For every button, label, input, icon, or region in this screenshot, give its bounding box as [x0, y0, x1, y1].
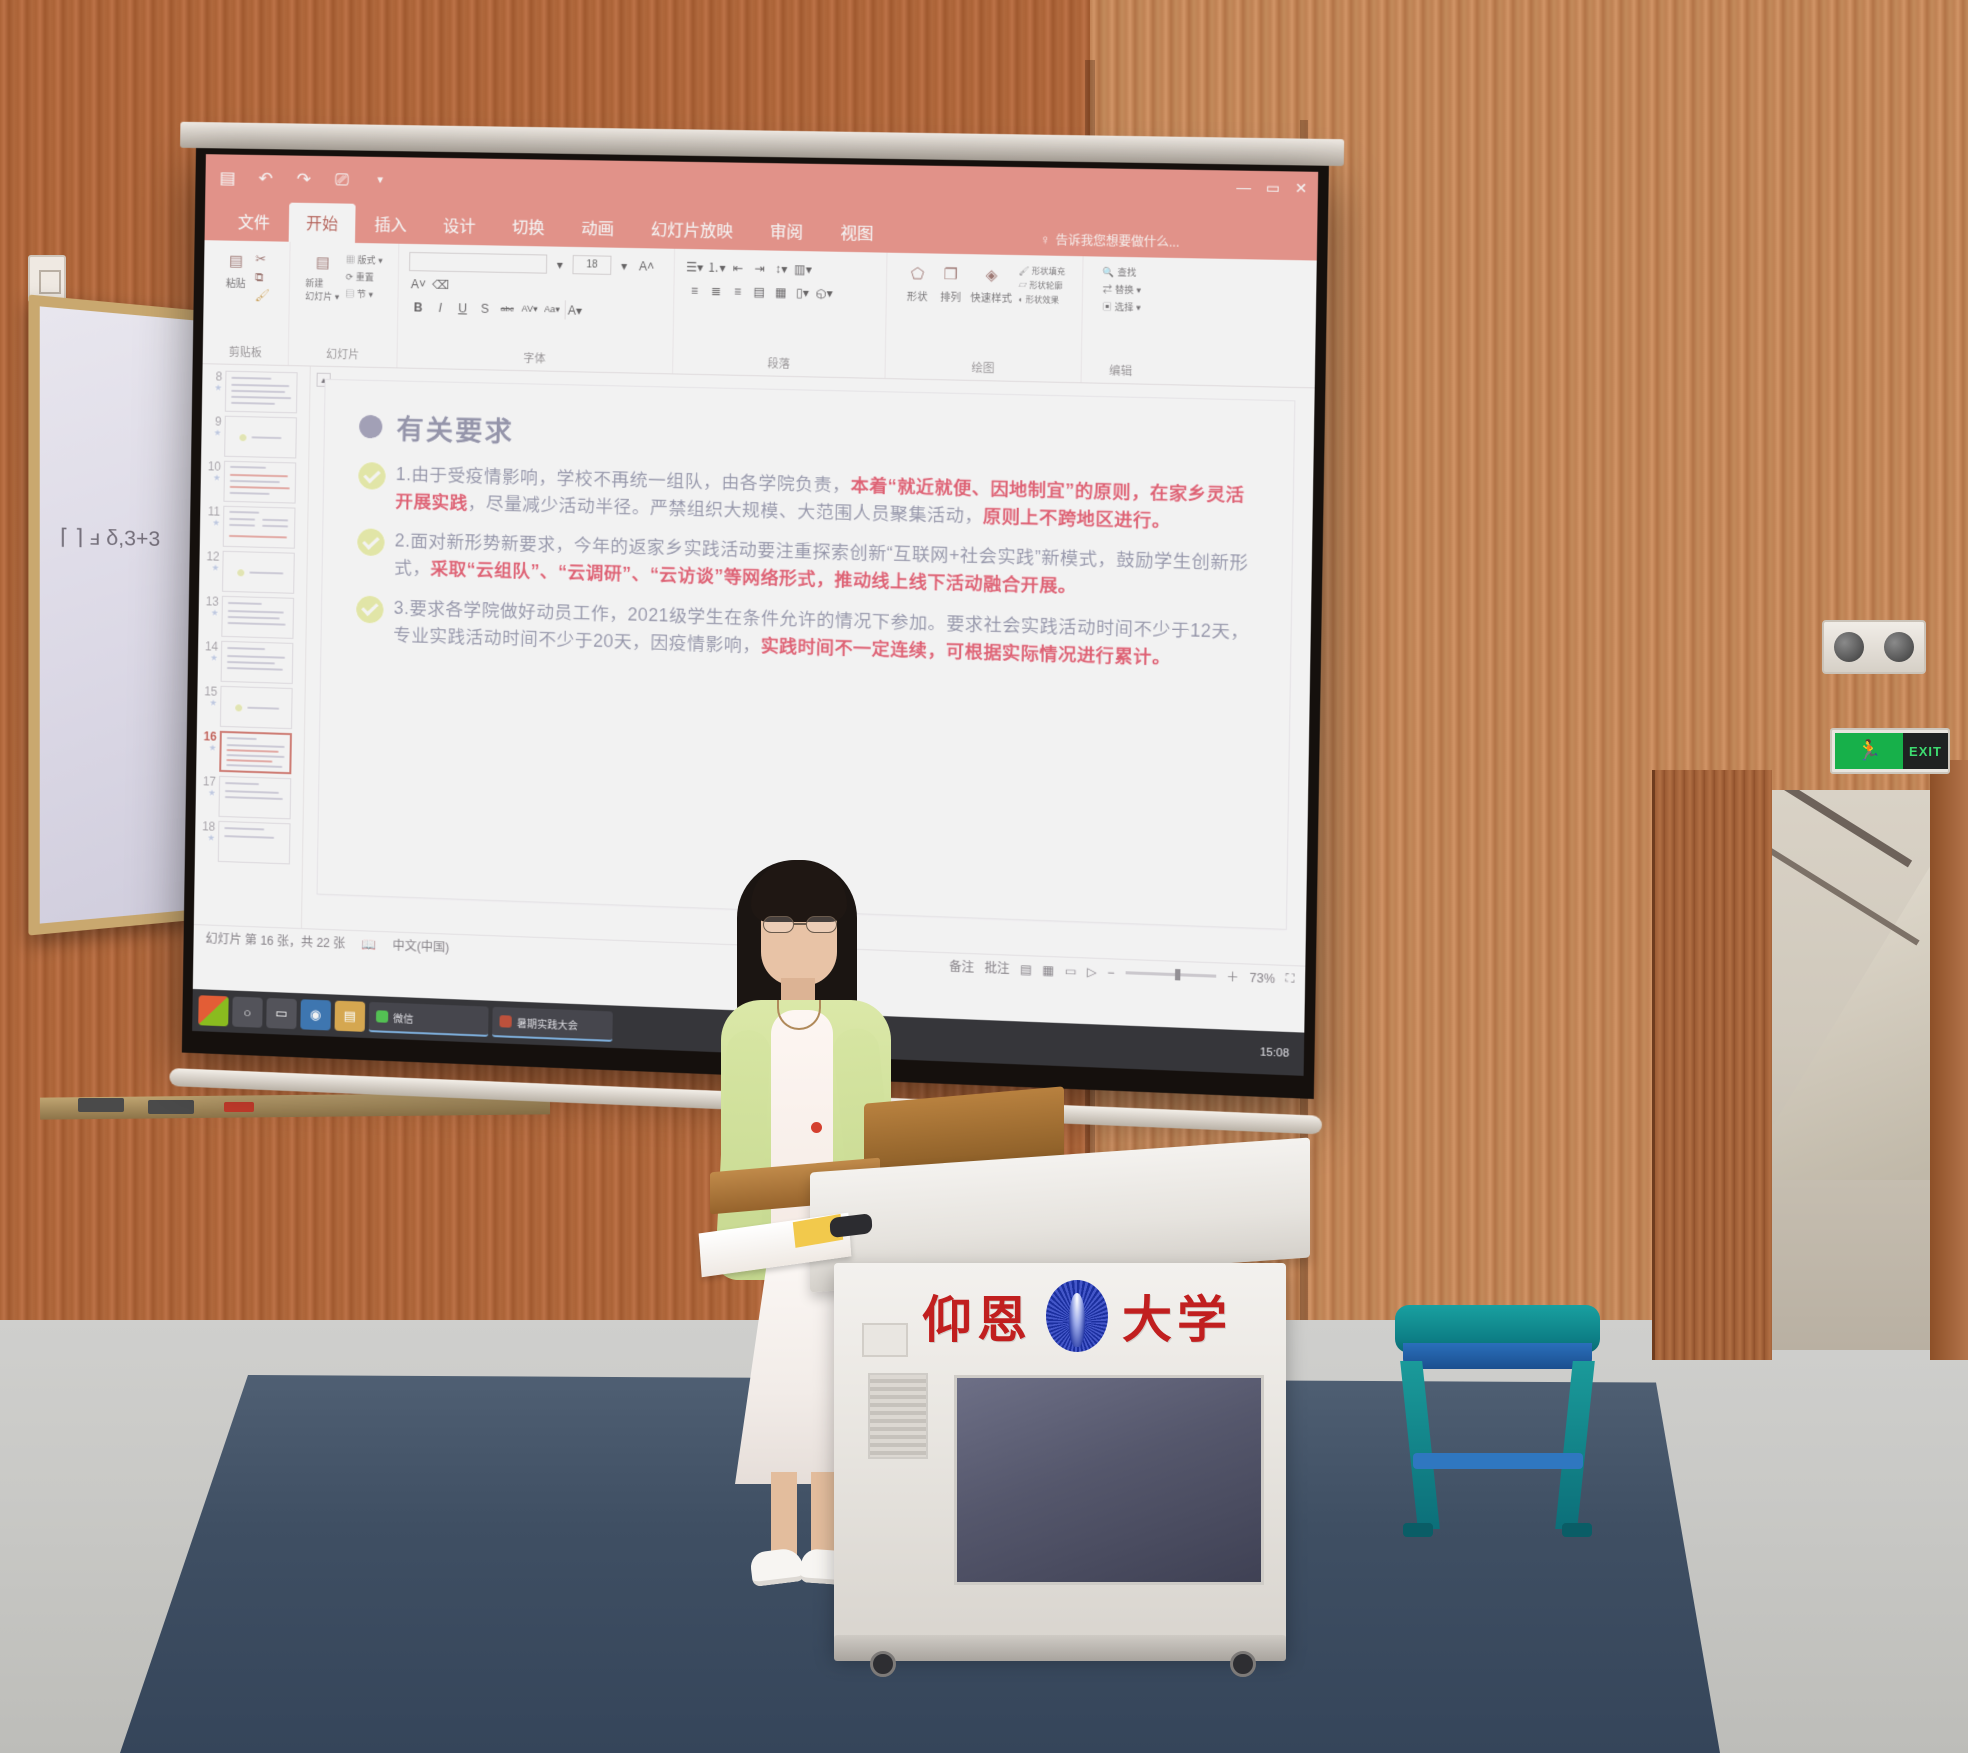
layout-button[interactable]: ▦ 版式 ▾: [346, 253, 383, 267]
paste-button[interactable]: ▤ 粘贴: [223, 249, 250, 291]
animation-star-icon: ★: [205, 472, 221, 483]
strikethrough-icon[interactable]: abc: [497, 299, 517, 319]
black-device: [830, 1213, 873, 1238]
thumbnail-number: 9: [206, 415, 222, 427]
redo-icon[interactable]: ↷: [293, 169, 313, 189]
university-logo: 仰恩 大学: [882, 1277, 1272, 1355]
select-button[interactable]: ▣ 选择 ▾: [1102, 300, 1141, 314]
reset-button[interactable]: ⟳ 重置: [346, 270, 383, 284]
taskbar-clock[interactable]: 15:08: [1260, 1046, 1298, 1060]
thumbnail-preview[interactable]: [223, 461, 296, 504]
replace-button[interactable]: ⇄ 替换 ▾: [1103, 282, 1142, 296]
normal-view-button[interactable]: ▤: [1020, 962, 1032, 977]
find-label: 查找: [1117, 267, 1136, 278]
text-direction-icon[interactable]: ▥▾: [793, 259, 813, 279]
tab-view[interactable]: 视图: [822, 212, 891, 253]
ppt-ribbon: ▤ 粘贴 ✂ ⧉ 🖌 剪贴板: [203, 240, 1317, 388]
character-spacing-icon[interactable]: AV▾: [520, 299, 540, 319]
reading-view-button[interactable]: ▭: [1065, 963, 1077, 978]
slide-bullet-1[interactable]: 1.由于受疫情影响，学校不再统一组队，由各学院负责，本着“就近就便、因地制宜”的…: [358, 460, 1257, 538]
stool-leg-left: [1400, 1361, 1440, 1529]
arrange-label: 排列: [940, 288, 961, 304]
new-slide-button[interactable]: ▤ 新建幻灯片 ▾: [305, 250, 340, 303]
whiteboard-scrawl-left: ⌈ ⌉ ⅎ δ,3+3: [60, 523, 160, 552]
powerpoint-icon: [499, 1015, 511, 1028]
quick-styles-icon: ◈: [979, 263, 1004, 288]
thumbnail-preview[interactable]: [224, 416, 297, 459]
podium-control-panel[interactable]: [862, 1323, 908, 1357]
thumbnail-item[interactable]: 12 ★: [199, 548, 307, 596]
animation-star-icon: ★: [199, 832, 215, 844]
minimize-icon[interactable]: —: [1236, 179, 1251, 197]
current-slide[interactable]: 有关要求 1.由于受疫情影响，学校不再统一组队，由各学院负责，本着“就近就便、因…: [317, 379, 1296, 930]
board-eraser-1[interactable]: [78, 1098, 124, 1112]
tab-insert[interactable]: 插入: [357, 204, 424, 244]
ribbon-group-editing: 🔍 查找 ⇄ 替换 ▾ ▣ 选择 ▾ 编辑: [1082, 256, 1162, 384]
restore-icon[interactable]: ▭: [1266, 179, 1280, 197]
align-left-icon[interactable]: ≡: [685, 280, 705, 300]
copy-icon[interactable]: ⧉: [255, 270, 271, 285]
stool-foot-left: [1403, 1523, 1433, 1537]
quick-access-toolbar: ▤ ↶ ↷ ⎚ ▾: [217, 167, 390, 190]
taskbar-window-wechat[interactable]: 微信: [369, 1002, 489, 1037]
slide-bullet-2-text: 2.面对新形势新要求，今年的返家乡实践活动要注重探索创新“互联网+社会实践”新模…: [394, 528, 1256, 606]
exit-runner-icon: 🏃: [1835, 733, 1903, 769]
lightbulb-icon: ♀: [1040, 232, 1050, 248]
new-slide-icon: ▤: [310, 250, 335, 275]
leg-left: [771, 1472, 797, 1558]
slide-thumbnail-pane[interactable]: 8 ★: [194, 364, 311, 928]
decrease-indent-icon[interactable]: ⇤: [728, 258, 748, 278]
font-color-icon[interactable]: A▾: [565, 300, 585, 320]
ribbon-group-slides-label: 幻灯片: [326, 346, 360, 367]
lectern-podium: 仰恩 大学: [810, 1095, 1310, 1655]
plastic-stool: [1395, 1305, 1600, 1540]
fit-slide-button[interactable]: ⛶: [1285, 971, 1294, 987]
check-circle-icon: [357, 529, 385, 557]
thumbnail-preview-selected[interactable]: [219, 731, 292, 774]
shape-outline-label: 形状轮廓: [1029, 281, 1063, 291]
thumbnail-item[interactable]: 10 ★: [200, 458, 308, 506]
slide-title-row[interactable]: 有关要求: [359, 407, 1258, 468]
section-button[interactable]: ▤ 节 ▾: [345, 287, 382, 301]
exit-sign: 🏃 EXIT: [1830, 728, 1950, 774]
stool-foot-right: [1562, 1523, 1592, 1537]
animation-star-icon: ★: [200, 787, 216, 799]
book-icon: 📖: [361, 937, 376, 952]
slide-bullet-2[interactable]: 2.面对新形势新要求，今年的返家乡实践活动要注重探索创新“互联网+社会实践”新模…: [357, 527, 1256, 606]
wechat-icon: [376, 1010, 388, 1023]
tell-me-label: 告诉我您想要做什么...: [1055, 231, 1179, 251]
section-label: 节: [357, 289, 366, 299]
bullet-1-seg-2: ，尽量减少活动半径。严禁组织大规模、大范围人员聚集活动，: [468, 493, 984, 526]
cut-icon[interactable]: ✂: [255, 251, 271, 267]
font-size-input[interactable]: 18: [572, 255, 611, 275]
ribbon-group-font-label: 字体: [523, 350, 546, 371]
thumbnail-number: 16: [201, 730, 217, 743]
thumbnail-number: 14: [202, 640, 218, 652]
grow-font-icon[interactable]: A˄: [637, 256, 657, 276]
university-emblem-icon: [1046, 1280, 1108, 1352]
italic-icon[interactable]: I: [431, 298, 451, 318]
slide-bullet-1-text: 1.由于受疫情影响，学校不再统一组队，由各学院负责，本着“就近就便、因地制宜”的…: [395, 461, 1257, 538]
stool-seat-skirt: [1403, 1343, 1592, 1369]
emergency-bulb-left: [1834, 632, 1864, 662]
slide-counter: 幻灯片 第 16 张，共 22 张: [205, 929, 345, 951]
podium-vent: [868, 1373, 928, 1459]
font-size-dropdown-icon[interactable]: ▾: [614, 256, 634, 276]
ribbon-group-slides: ▤ 新建幻灯片 ▾ ▦ 版式 ▾ ⟳ 重置 ▤ 节 ▾ 幻灯片: [289, 242, 400, 368]
increase-indent-icon[interactable]: ⇥: [750, 258, 770, 278]
animation-star-icon: ★: [206, 382, 222, 393]
arrange-icon: ❐: [938, 262, 963, 287]
window-controls: — ▭ ✕: [1236, 179, 1307, 198]
layout-label: 版式: [357, 255, 375, 265]
stool-crossbar: [1413, 1453, 1583, 1469]
windows-start-icon[interactable]: [198, 995, 228, 1026]
tab-transitions[interactable]: 切换: [495, 206, 563, 247]
door-frame-right: [1930, 760, 1968, 1360]
podium-front-panel: 仰恩 大学: [834, 1263, 1286, 1653]
taskbar-window-wechat-label: 微信: [393, 1009, 413, 1025]
ribbon-group-paragraph: ☰▾ ⒈▾ ⇤ ⇥ ↕▾ ▥▾ ≡ ≣ ≡ ▤: [673, 249, 887, 378]
justify-icon[interactable]: ▤: [749, 282, 769, 302]
thumbnail-number: 13: [203, 595, 219, 607]
exit-sign-label: EXIT: [1903, 733, 1948, 769]
shape-outline-button[interactable]: ▱ 形状轮廓: [1018, 280, 1065, 292]
tab-review[interactable]: 审阅: [752, 211, 821, 252]
ribbon-group-editing-label: 编辑: [1109, 362, 1132, 383]
ribbon-group-drawing: ⬠ 形状 ❐ 排列 ◈ 快速样式: [886, 253, 1084, 383]
bullet-1-seg-0: 1.由于受疫情影响，学校不再统一组队，由各学院负责，: [396, 464, 851, 495]
taskbar-taskview-icon[interactable]: ▭: [266, 998, 297, 1029]
tab-file[interactable]: 文件: [221, 201, 288, 241]
podium-caster-left: [870, 1651, 896, 1677]
thumbnail-preview[interactable]: [218, 776, 291, 819]
align-text-icon[interactable]: ▯▾: [793, 282, 813, 302]
clear-formatting-icon[interactable]: ⌫: [431, 275, 451, 294]
animation-star-icon: ★: [202, 652, 218, 663]
thumbnail-item[interactable]: 14 ★: [198, 638, 306, 686]
thumbnail-number: 15: [201, 685, 217, 697]
thumbnail-item[interactable]: 13 ★: [198, 593, 306, 641]
thumbnail-item[interactable]: 9 ★: [201, 413, 309, 461]
thumbnail-preview[interactable]: [223, 506, 296, 549]
thumbnail-preview[interactable]: [221, 596, 294, 639]
tab-design[interactable]: 设计: [426, 205, 493, 245]
thumbnail-number: 10: [205, 460, 221, 472]
thumbnail-preview[interactable]: [220, 686, 293, 729]
ribbon-group-clipboard: ▤ 粘贴 ✂ ⧉ 🖌 剪贴板: [203, 240, 291, 365]
thumbnail-preview[interactable]: [221, 641, 294, 684]
logo-text-right: 大学: [1122, 1280, 1232, 1352]
ribbon-group-paragraph-label: 段落: [767, 355, 790, 376]
animation-star-icon: ★: [203, 562, 219, 573]
underline-icon[interactable]: U: [453, 298, 473, 318]
shape-effects-label: 形状效果: [1026, 295, 1060, 305]
glasses-lens-right: [806, 916, 837, 933]
start-slideshow-icon[interactable]: ⎚: [332, 169, 352, 189]
podium-base: [834, 1635, 1286, 1661]
glasses-lens-left: [763, 916, 794, 933]
quick-styles-label: 快速样式: [970, 289, 1012, 305]
animation-star-icon: ★: [204, 517, 220, 528]
ribbon-group-clipboard-label: 剪贴板: [229, 344, 262, 365]
door-leaf[interactable]: [1652, 770, 1772, 1360]
slideshow-button[interactable]: ▷: [1087, 964, 1097, 979]
taskbar-window-ppt[interactable]: 暑期实践大会: [492, 1007, 613, 1042]
animation-star-icon: ★: [203, 607, 219, 618]
bullets-icon[interactable]: ☰▾: [685, 257, 705, 277]
notes-toggle-button[interactable]: 备注: [949, 957, 974, 975]
paste-icon: ▤: [224, 249, 248, 273]
bold-icon[interactable]: B: [408, 297, 428, 316]
animation-star-icon: ★: [200, 742, 216, 754]
thumbnail-item[interactable]: 18 ★: [195, 818, 303, 867]
thumbnail-item[interactable]: 15 ★: [197, 683, 305, 731]
align-center-icon[interactable]: ≣: [706, 281, 726, 301]
zoom-level-label[interactable]: 73%: [1249, 970, 1275, 985]
ribbon-group-font: ▾ 18 ▾ A˄ A˅ ⌫ B I: [397, 244, 675, 374]
taskbar-explorer-icon[interactable]: ▤: [335, 1001, 366, 1032]
save-icon[interactable]: ▤: [217, 167, 237, 187]
thumbnail-item[interactable]: 8 ★: [202, 368, 310, 415]
reset-label: 重置: [356, 272, 374, 282]
thumbnail-number: 11: [204, 505, 220, 517]
zoom-slider-knob[interactable]: [1175, 969, 1180, 980]
thumbnail-item[interactable]: 17 ★: [195, 773, 303, 822]
taskbar-window-ppt-label: 暑期实践大会: [517, 1014, 578, 1032]
quick-styles-button[interactable]: ◈ 快速样式: [970, 262, 1012, 305]
thumbnail-number: 17: [200, 775, 216, 788]
glasses-bridge: [794, 923, 806, 925]
glasses: [763, 916, 837, 933]
line-spacing-icon[interactable]: ↕▾: [771, 259, 791, 279]
arrange-button[interactable]: ❐ 排列: [937, 262, 965, 304]
font-name-input[interactable]: [409, 252, 547, 274]
emergency-bulb-right: [1884, 632, 1914, 662]
language-label: 中文(中国): [393, 936, 450, 955]
animation-star-icon: ★: [201, 697, 217, 708]
align-right-icon[interactable]: ≡: [728, 281, 748, 301]
taskbar-browser-icon[interactable]: ◉: [300, 999, 331, 1030]
font-name-dropdown-icon[interactable]: ▾: [550, 255, 570, 275]
close-icon[interactable]: ✕: [1295, 180, 1308, 198]
shadow-icon[interactable]: S: [475, 299, 495, 319]
zoom-out-button[interactable]: −: [1107, 965, 1115, 980]
title-bullet-icon: [359, 415, 383, 439]
thumbnail-preview[interactable]: [225, 371, 298, 414]
thumbnail-item[interactable]: 11 ★: [200, 503, 308, 551]
shape-effects-button[interactable]: ◐ 形状效果: [1018, 294, 1065, 306]
shape-fill-label: 形状填充: [1032, 267, 1066, 277]
zoom-in-button[interactable]: ＋: [1226, 968, 1239, 986]
convert-smartart-icon[interactable]: ◵▾: [814, 283, 834, 303]
format-painter-icon[interactable]: 🖌: [254, 288, 269, 302]
paste-label: 粘贴: [226, 275, 246, 290]
shapes-button[interactable]: ⬠ 形状: [904, 261, 932, 303]
shrink-font-icon[interactable]: A˅: [409, 274, 429, 293]
tell-me-box[interactable]: ♀ 告诉我您想要做什么...: [1040, 231, 1180, 251]
thumbnail-preview[interactable]: [222, 551, 295, 594]
thumbnail-number: 12: [203, 550, 219, 562]
thumbnail-item-selected[interactable]: 16 ★: [196, 728, 304, 777]
columns-icon[interactable]: ▦: [771, 282, 791, 302]
undo-icon[interactable]: ↶: [255, 168, 275, 188]
taskbar-search-icon[interactable]: ○: [232, 997, 263, 1028]
ribbon-group-drawing-label: 绘图: [971, 359, 994, 380]
bullet-1-seg-3: 原则上不跨地区进行。: [983, 506, 1171, 531]
tab-slideshow[interactable]: 幻灯片放映: [633, 209, 751, 251]
font-size-value: 18: [586, 259, 598, 270]
check-circle-icon: [356, 595, 384, 623]
board-eraser-2[interactable]: [148, 1100, 194, 1114]
thumbnail-number: 18: [199, 820, 215, 833]
select-label: 选择: [1114, 302, 1133, 313]
slide-title-text: 有关要求: [396, 408, 514, 450]
lecture-hall-scene: ⌈ ⌉ ⅎ δ,3+3 J. 开放 ½ 姚黄罗 🏃 EXIT ▤ ↶: [0, 0, 1968, 1753]
stool-leg-right: [1555, 1361, 1595, 1529]
shapes-icon: ⬠: [905, 261, 930, 286]
bullet-3-seg-1: 实践时间不一定连续，可根据实际情况进行累计。: [761, 635, 1172, 667]
slide-bullet-3[interactable]: 3.要求各学院做好动员工作，2021级学生在条件允许的情况下参加。要求社会实践活…: [356, 593, 1255, 674]
slide-bullet-3-text: 3.要求各学院做好动员工作，2021级学生在条件允许的情况下参加。要求社会实践活…: [393, 594, 1255, 674]
find-button[interactable]: 🔍 查找: [1103, 265, 1137, 279]
shapes-label: 形状: [907, 288, 928, 304]
podium-embedded-monitor[interactable]: [954, 1375, 1264, 1585]
shape-fill-button[interactable]: 🖌 形状填充: [1019, 265, 1066, 277]
change-case-icon[interactable]: Aa▾: [542, 300, 562, 320]
animation-star-icon: ★: [205, 427, 221, 438]
zoom-slider[interactable]: [1125, 971, 1216, 978]
check-circle-icon: [358, 462, 386, 490]
emergency-light: [1822, 620, 1926, 674]
replace-label: 替换: [1115, 285, 1134, 296]
thumbnail-number: 8: [206, 370, 222, 382]
numbering-icon[interactable]: ⒈▾: [706, 257, 726, 277]
tab-home[interactable]: 开始: [289, 203, 356, 243]
board-marker[interactable]: [224, 1102, 254, 1112]
tab-animations[interactable]: 动画: [564, 207, 632, 248]
customize-qat-icon[interactable]: ▾: [370, 170, 390, 190]
comments-toggle-button[interactable]: 批注: [984, 959, 1009, 977]
logo-text-left: 仰恩: [922, 1280, 1032, 1352]
slide-sorter-button[interactable]: ▦: [1042, 962, 1054, 977]
podium-caster-right: [1230, 1651, 1256, 1677]
thumbnail-preview[interactable]: [218, 821, 291, 865]
new-slide-label: 新建幻灯片 ▾: [305, 276, 340, 303]
